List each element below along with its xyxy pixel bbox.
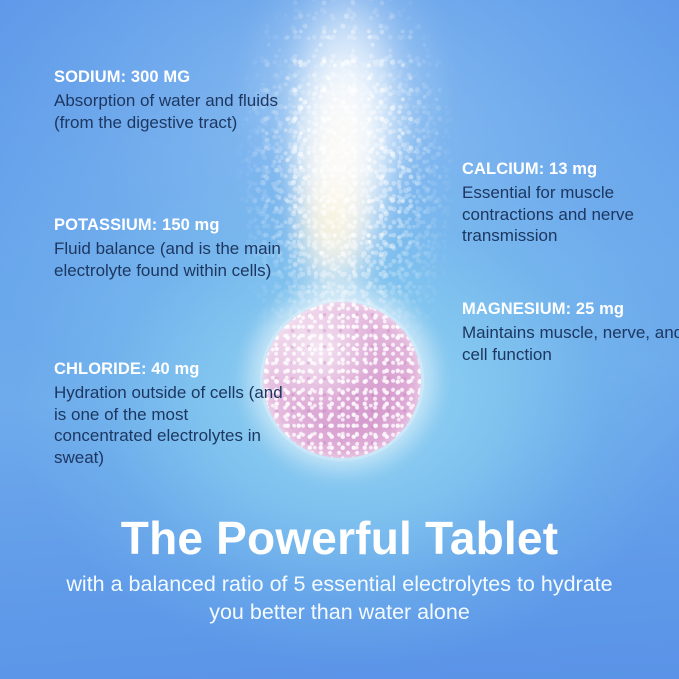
poster-canvas: SODIUM: 300 MG Absorption of water and f… — [0, 0, 679, 679]
page-title: The Powerful Tablet — [0, 512, 679, 564]
tablet-disc-icon — [263, 302, 421, 458]
page-subtitle: with a balanced ratio of 5 essential ele… — [60, 570, 620, 626]
nutrient-item-calcium: CALCIUM: 13 mg Essential for muscle cont… — [462, 160, 679, 247]
footer-headline-block: The Powerful Tablet with a balanced rati… — [0, 512, 679, 626]
nutrient-title-magnesium: MAGNESIUM: 25 mg — [462, 300, 679, 319]
nutrient-title-chloride: CHLORIDE: 40 mg — [54, 360, 286, 379]
nutrient-item-sodium: SODIUM: 300 MG Absorption of water and f… — [54, 68, 286, 133]
nutrient-description-chloride: Hydration outside of cells (and is one o… — [54, 382, 286, 468]
nutrient-item-chloride: CHLORIDE: 40 mg Hydration outside of cel… — [54, 360, 286, 468]
nutrient-item-potassium: POTASSIUM: 150 mg Fluid balance (and is … — [54, 216, 286, 281]
nutrient-description-calcium: Essential for muscle contractions and ne… — [462, 182, 679, 247]
foam-warm-glow-icon — [296, 180, 366, 270]
effervescent-tablet — [263, 302, 421, 458]
nutrient-title-sodium: SODIUM: 300 MG — [54, 68, 286, 87]
nutrient-description-potassium: Fluid balance (and is the main electroly… — [54, 238, 286, 281]
nutrient-title-calcium: CALCIUM: 13 mg — [462, 160, 679, 179]
nutrient-title-potassium: POTASSIUM: 150 mg — [54, 216, 286, 235]
nutrient-item-magnesium: MAGNESIUM: 25 mg Maintains muscle, nerve… — [462, 300, 679, 365]
nutrient-description-sodium: Absorption of water and fluids (from the… — [54, 90, 286, 133]
nutrient-description-magnesium: Maintains muscle, nerve, and cell functi… — [462, 322, 679, 365]
